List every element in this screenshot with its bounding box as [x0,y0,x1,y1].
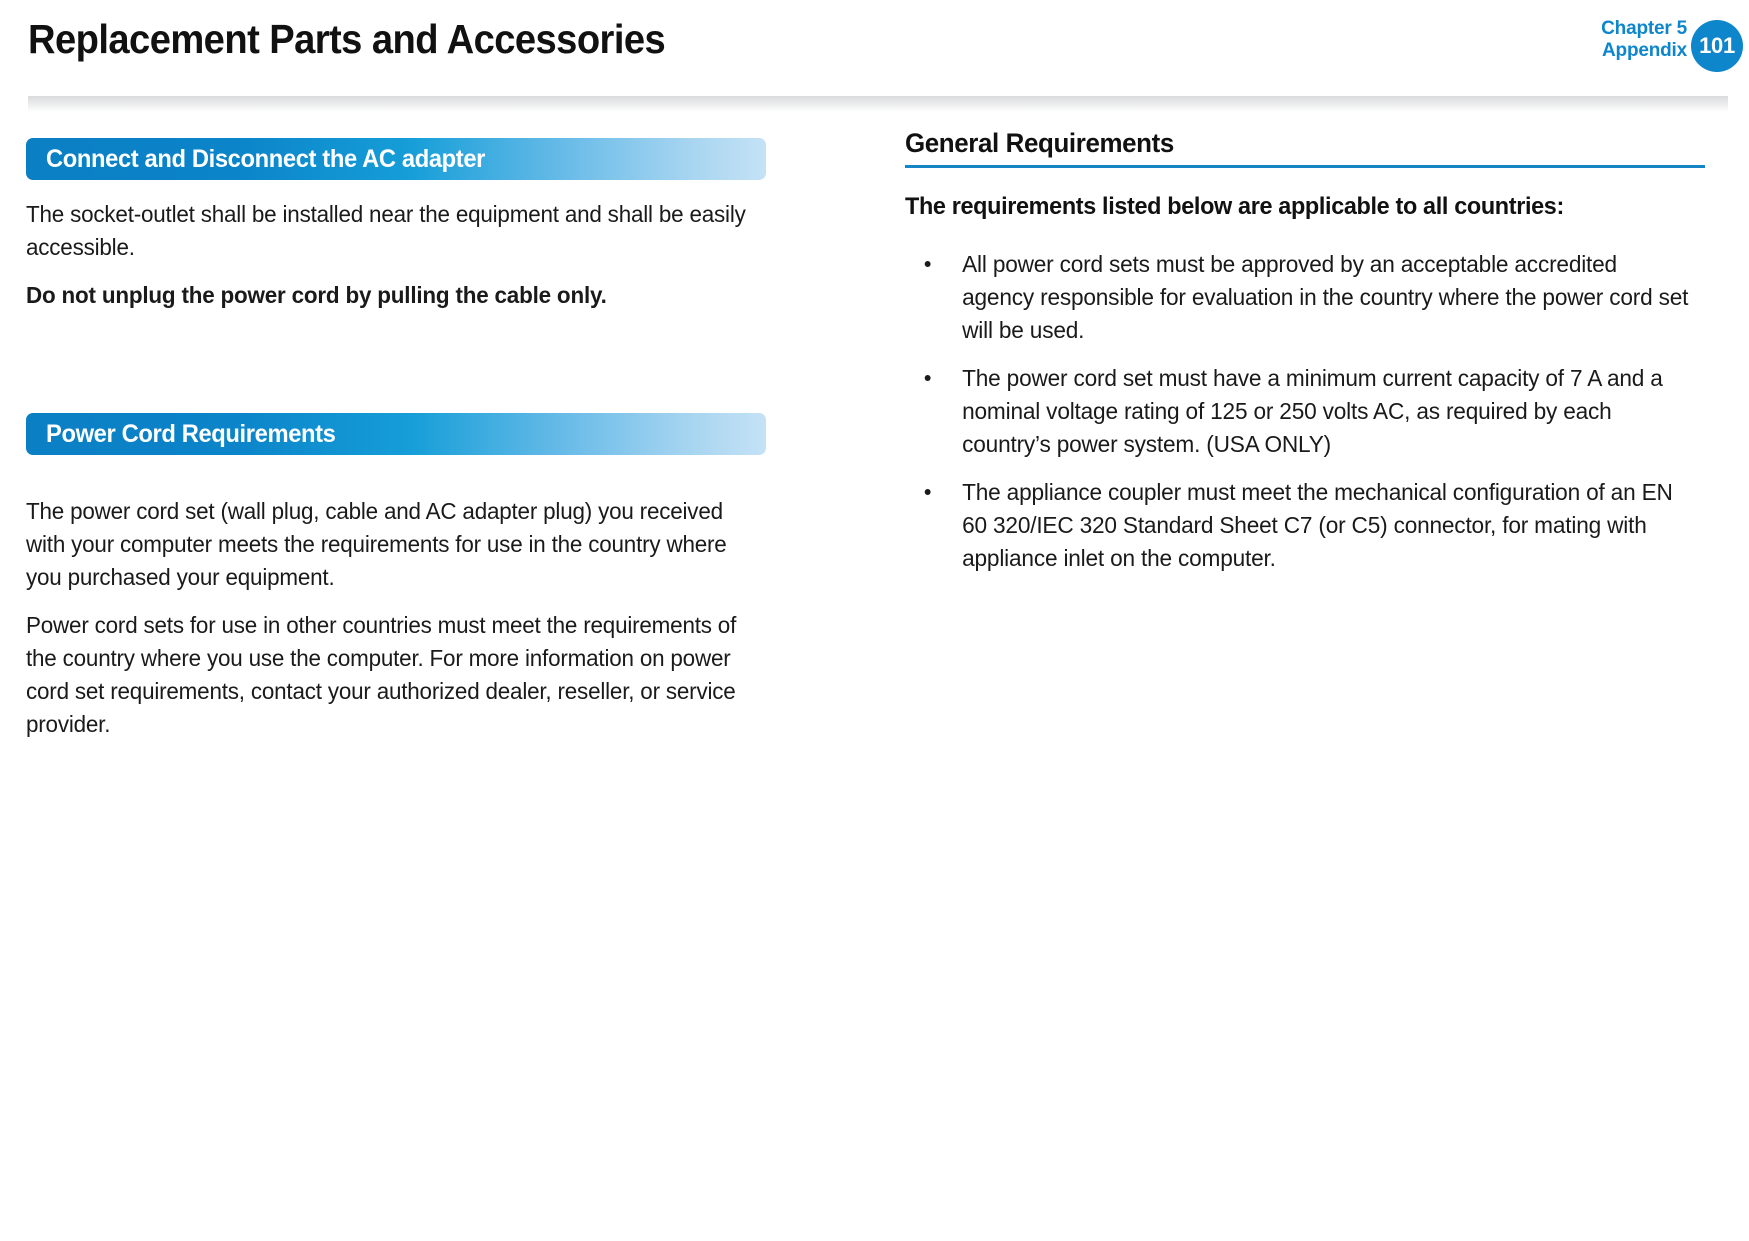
banner-gap [26,473,766,495]
list-item: All power cord sets must be approved by … [905,248,1693,347]
power-cord-paragraph-2: Power cord sets for use in other countri… [26,609,748,741]
ac-adapter-warning: Do not unplug the power cord by pulling … [26,279,748,312]
section-banner-ac-adapter-label: Connect and Disconnect the AC adapter [46,145,485,174]
list-item-text: All power cord sets must be approved by … [962,251,1688,343]
list-item-text: The power cord set must have a minimum c… [962,365,1663,457]
section-spacer [26,327,766,413]
list-item: The power cord set must have a minimum c… [905,362,1693,461]
bullet-dot-icon [925,489,931,495]
bullet-dot-icon [925,261,931,267]
heading-underline-rule [905,165,1705,168]
general-requirements-heading: General Requirements [905,128,1673,165]
header-divider-shadow [28,96,1728,112]
requirements-bullet-list: All power cord sets must be approved by … [905,248,1705,575]
chapter-name: Appendix [1601,40,1687,62]
bullet-dot-icon [925,375,931,381]
left-column: Connect and Disconnect the AC adapter Th… [26,138,766,756]
power-cord-paragraph-1: The power cord set (wall plug, cable and… [26,495,748,594]
section-banner-power-cord: Power Cord Requirements [26,413,766,455]
chapter-number: Chapter 5 [1601,18,1687,40]
list-item-text: The appliance coupler must meet the mech… [962,479,1673,571]
page-title: Replacement Parts and Accessories [28,16,665,63]
right-column: General Requirements The requirements li… [905,128,1705,590]
section-banner-ac-adapter: Connect and Disconnect the AC adapter [26,138,766,180]
page-number-badge: 101 [1691,20,1743,72]
requirements-lead-text: The requirements listed below are applic… [905,191,1685,223]
page-header: Replacement Parts and Accessories Chapte… [0,0,1749,96]
section-banner-power-cord-label: Power Cord Requirements [46,420,336,449]
list-item: The appliance coupler must meet the mech… [905,476,1693,575]
manual-page: Replacement Parts and Accessories Chapte… [0,0,1749,1241]
chapter-label: Chapter 5 Appendix [1601,18,1687,63]
ac-adapter-paragraph-1: The socket-outlet shall be installed nea… [26,198,748,264]
